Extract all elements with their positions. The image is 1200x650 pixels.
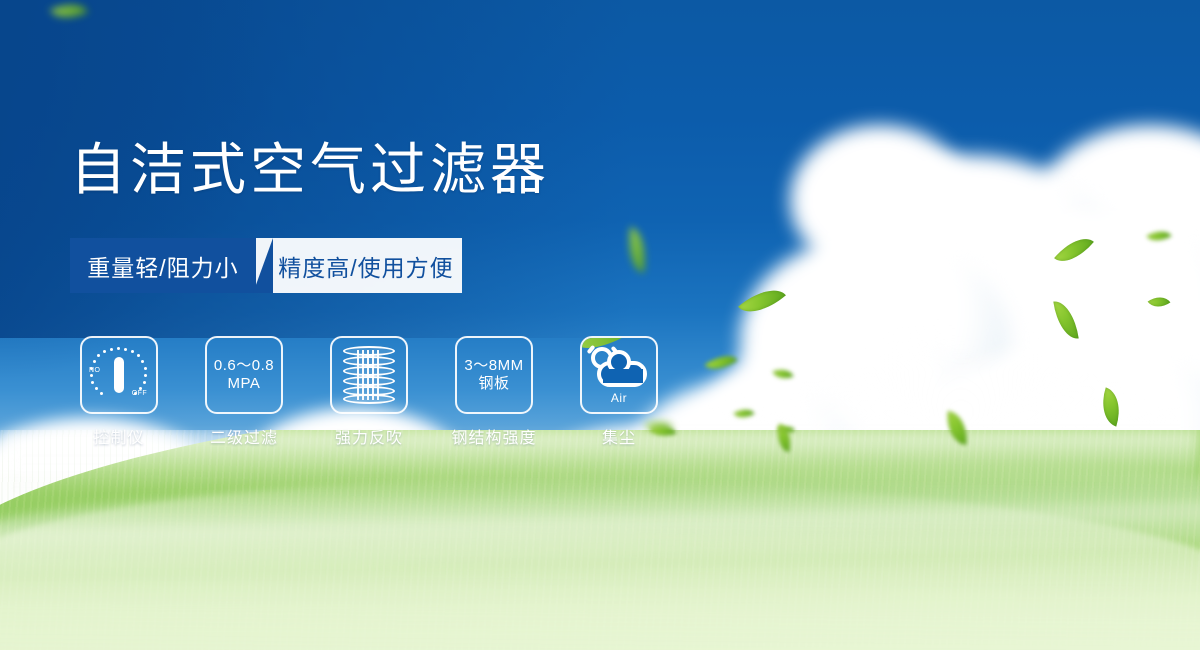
leaf-icon (944, 411, 969, 445)
feature-label: 集尘 (602, 424, 636, 448)
subtitle-right-text: 精度高/使用方便 (264, 249, 453, 283)
subtitle-right-segment: 精度高/使用方便 (256, 238, 462, 293)
feature-label: 控制仪 (93, 424, 144, 448)
dial-on-label: NO (89, 367, 100, 374)
dial-needle (114, 357, 124, 393)
feature-icon-box: Air (580, 336, 658, 414)
page-title: 自洁式空气过滤器 (70, 143, 550, 199)
feature-label: 强力反吹 (335, 424, 403, 448)
feature-icon-box: 0.6～0.8 MPA (205, 336, 283, 414)
feature-label: 二级过滤 (210, 424, 278, 448)
feature-icon-box: NO OFF (80, 336, 158, 414)
feature-label: 钢结构强度 (452, 424, 537, 448)
subtitle-left-text: 重量轻/阻力小 (87, 249, 238, 283)
feature-item-pressure[interactable]: 0.6～0.8 MPA 二级过滤 (205, 336, 283, 448)
control-dial-icon: NO OFF (90, 346, 148, 404)
air-label: Air (611, 391, 627, 405)
dial-off-label: OFF (132, 390, 147, 397)
feature-list: NO OFF 控制仪 0.6～0.8 MPA 二级过滤 (80, 336, 658, 448)
feature-item-steel-strength[interactable]: 3～8MM 钢板 钢结构强度 (455, 336, 533, 448)
pressure-value-line2: MPA (228, 375, 261, 393)
feature-icon-box: 3～8MM 钢板 (455, 336, 533, 414)
grass-foreground (0, 473, 1200, 650)
feature-item-backblow[interactable]: 强力反吹 (330, 336, 408, 448)
pressure-value-line1: 0.6～0.8 (214, 357, 274, 375)
subtitle-bar: 重量轻/阻力小 精度高/使用方便 (70, 238, 462, 293)
feature-item-control-dial[interactable]: NO OFF 控制仪 (80, 336, 158, 448)
product-hero-banner: 自洁式空气过滤器 重量轻/阻力小 精度高/使用方便 (0, 0, 1200, 650)
filter-stack-icon (343, 346, 395, 404)
steel-thickness-line2: 钢板 (478, 375, 509, 393)
feature-item-dust-collection[interactable]: Air 集尘 (580, 336, 658, 448)
feature-icon-box (330, 336, 408, 414)
steel-thickness-line1: 3～8MM (464, 357, 523, 375)
grass-field (0, 430, 1200, 650)
subtitle-left-segment: 重量轻/阻力小 (70, 238, 256, 293)
air-cloud-icon (589, 345, 649, 389)
